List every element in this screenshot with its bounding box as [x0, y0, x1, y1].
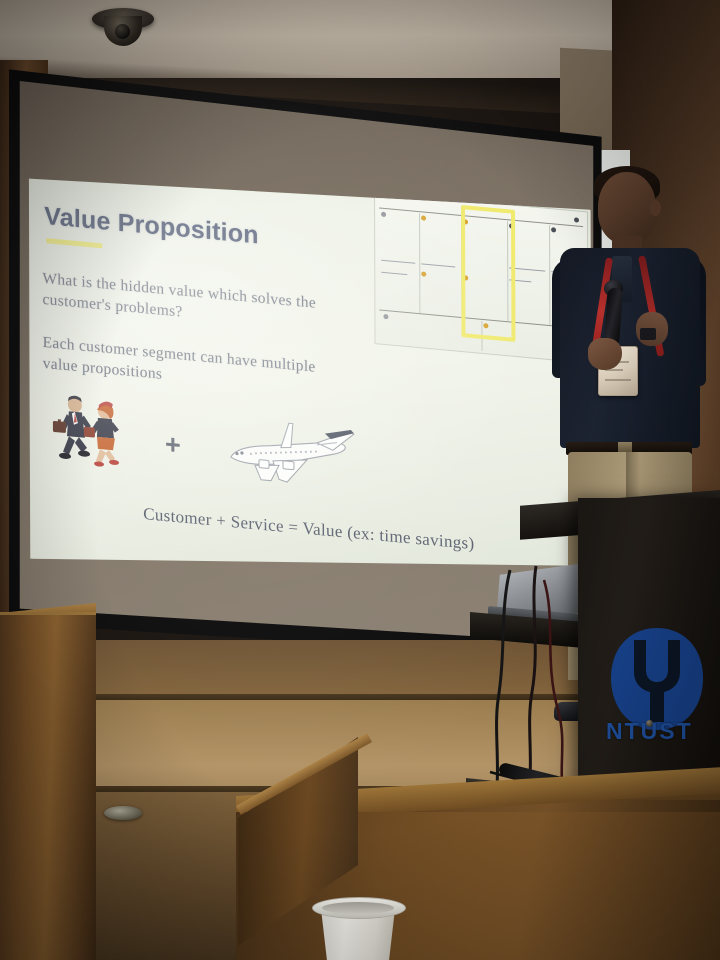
- presentation-clicker: [640, 328, 656, 340]
- presenter-left-hand: [588, 338, 622, 370]
- lecture-hall-scene: Value Proposition What is the hidden val…: [0, 0, 720, 960]
- projected-slide: Value Proposition What is the hidden val…: [22, 158, 595, 610]
- left-wooden-panel: [0, 612, 96, 960]
- camera-lens-icon: [115, 24, 130, 39]
- slide-content: Value Proposition What is the hidden val…: [22, 158, 595, 610]
- slide-paragraph-1: What is the hidden value which solves th…: [42, 268, 342, 337]
- running-businesspeople-illustration: [47, 392, 137, 470]
- floor-outlet-cover: [104, 806, 142, 820]
- paper-cup-interior: [322, 902, 394, 914]
- presenter-ear: [650, 200, 661, 216]
- presenter-head: [598, 172, 656, 244]
- title-underline: [46, 238, 102, 248]
- slide-paragraph-2: Each customer segment can have multiple …: [43, 332, 343, 401]
- plus-symbol: +: [165, 429, 181, 461]
- canvas-value-proposition-highlight: [461, 205, 515, 342]
- slide-caption: Customer + Service = Value (ex: time sav…: [143, 504, 543, 560]
- airplane-illustration: [221, 412, 361, 495]
